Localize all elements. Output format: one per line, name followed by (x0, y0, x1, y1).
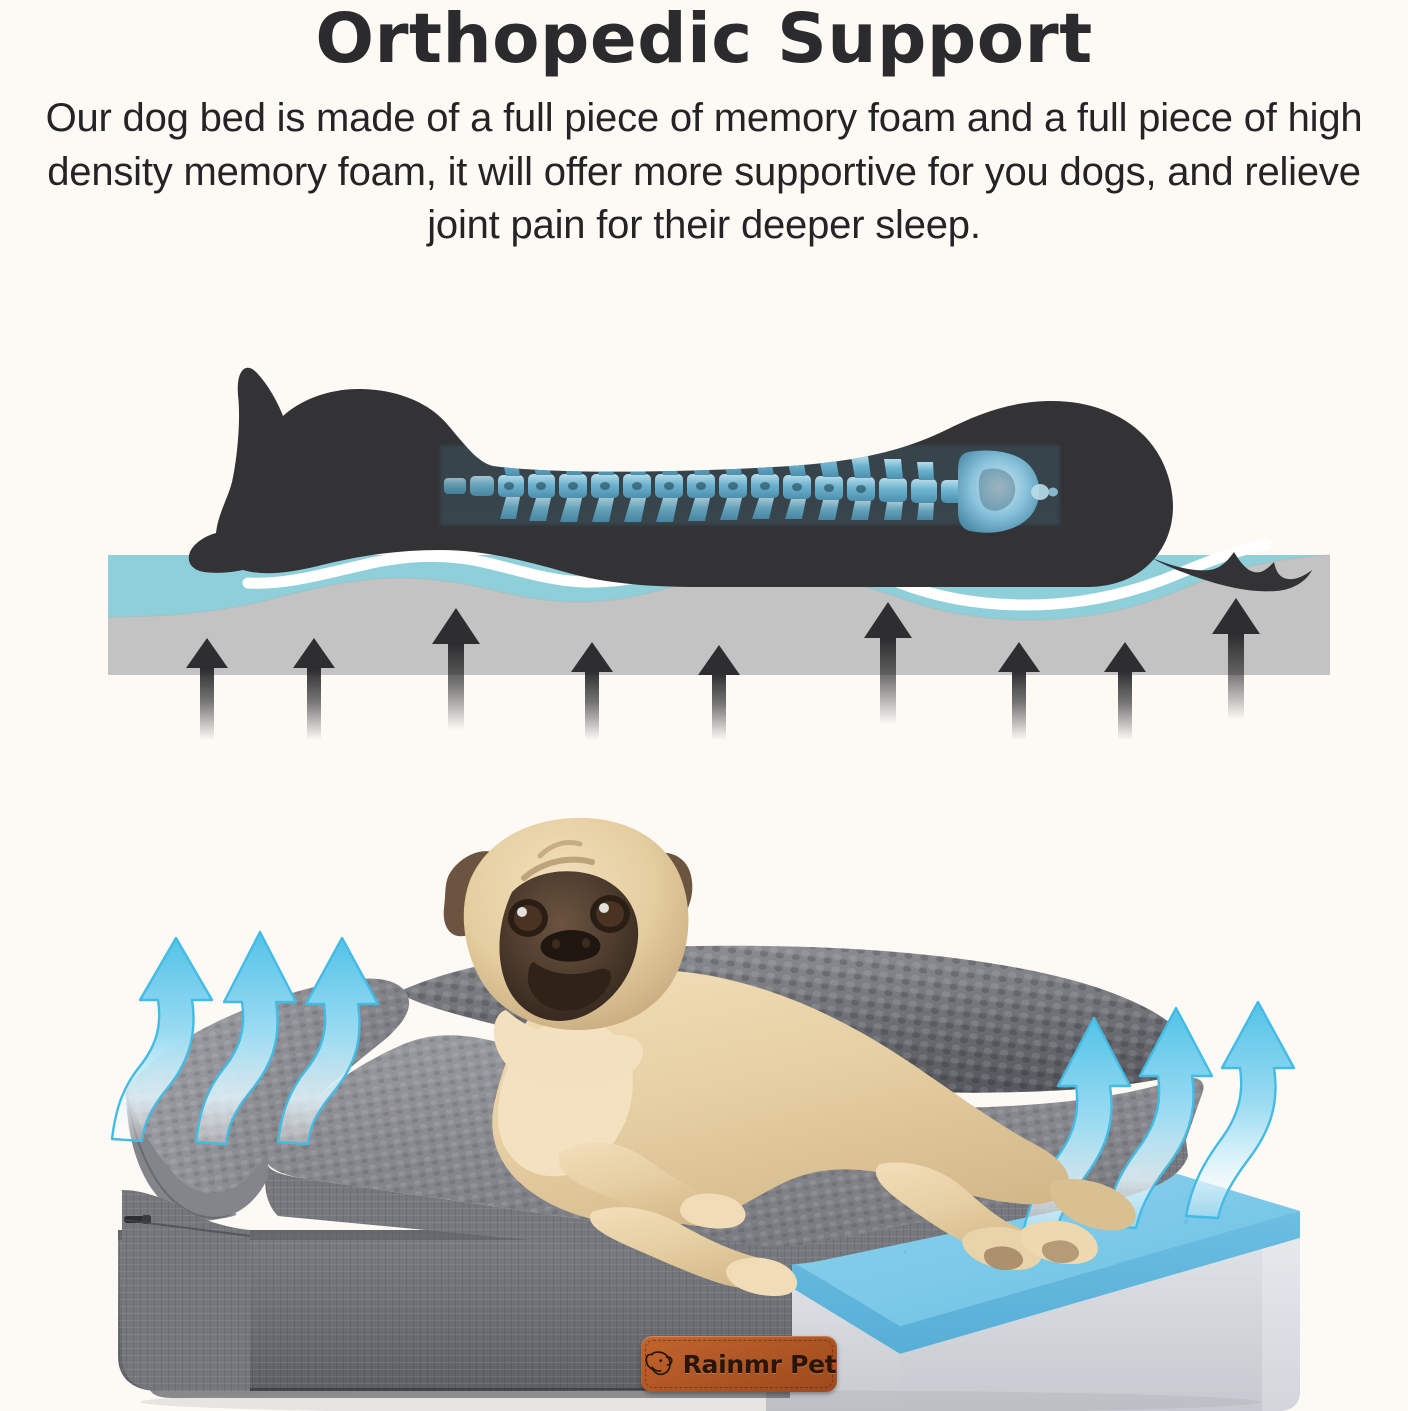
cross-section-illustration (0, 300, 1408, 740)
dog-bed-illustration (0, 760, 1408, 1411)
orthopedic-support-diagram (0, 300, 1408, 740)
dog-head-icon (642, 1347, 676, 1381)
spine-xray (440, 445, 1060, 533)
foam-corner-highlight (1262, 1238, 1300, 1411)
header-block: Orthopedic Support Our dog bed is made o… (0, 0, 1408, 300)
brand-name: Rainmr Pet (683, 1350, 837, 1379)
product-photo-section (0, 760, 1408, 1411)
brand-label: Rainmr Pet (641, 1336, 837, 1392)
page-title: Orthopedic Support (0, 0, 1408, 74)
airflow-arrow (1186, 1002, 1294, 1218)
page-description: Our dog bed is made of a full piece of m… (0, 74, 1408, 253)
